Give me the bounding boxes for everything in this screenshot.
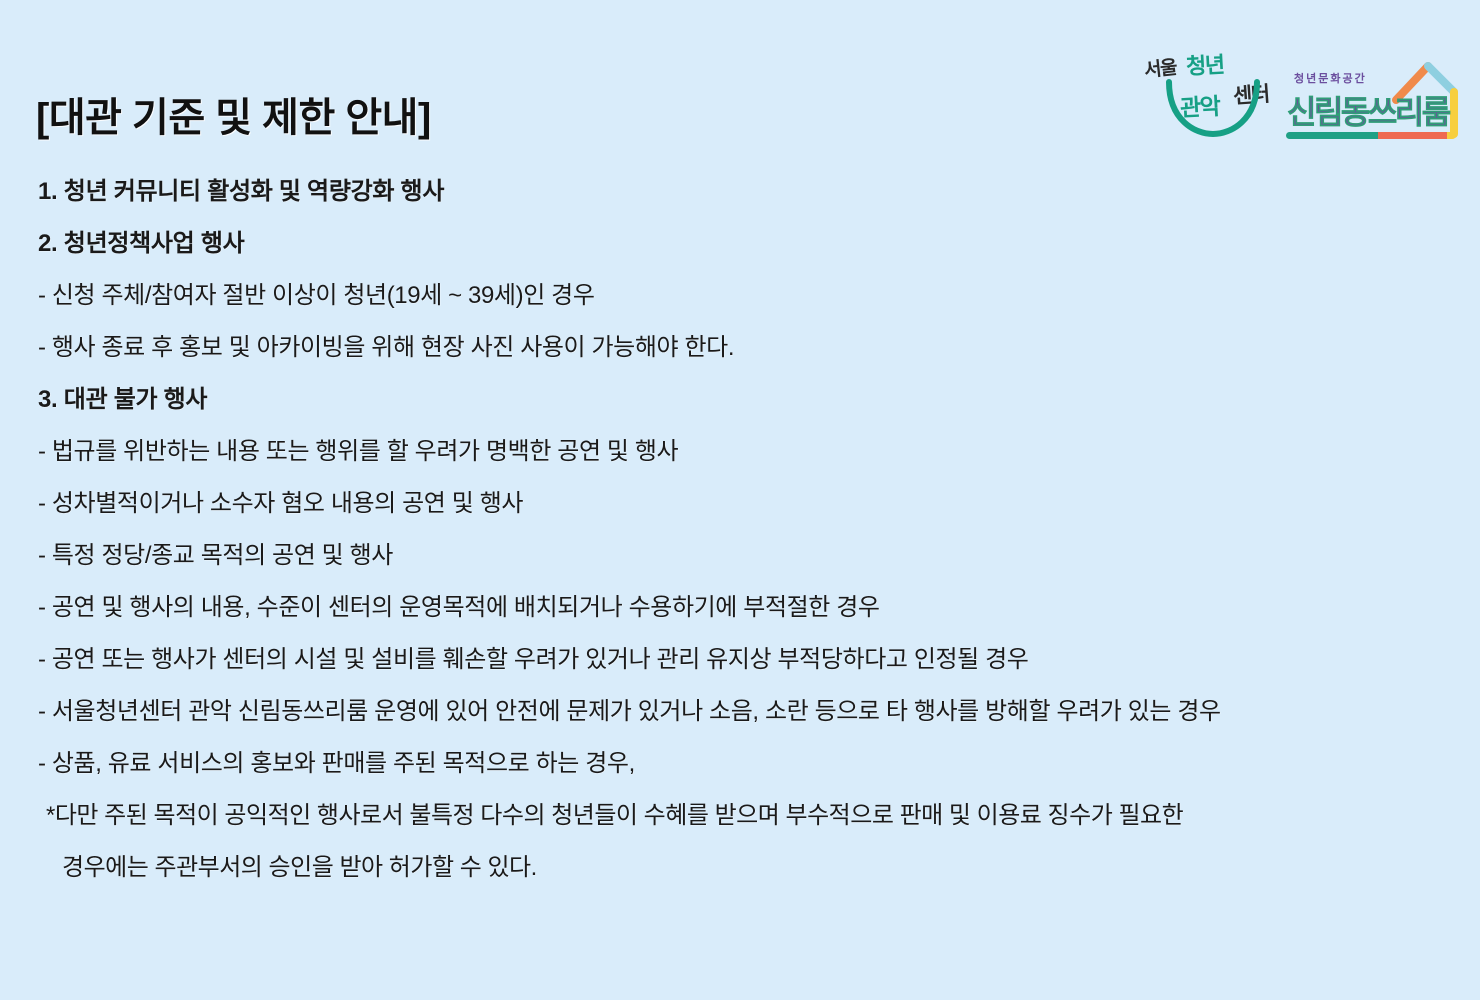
rule-line: *다만 주된 목적이 공익적인 행사로서 불특정 다수의 청년들이 수혜를 받으… [0, 790, 1480, 842]
color-bar-green-segment [1286, 132, 1378, 139]
color-bar-orange-segment [1378, 132, 1448, 139]
rule-line: - 공연 또는 행사가 센터의 시설 및 설비를 훼손할 우려가 있거나 관리 … [0, 634, 1480, 686]
logo-text-subtitle: 청년문화공간 [1294, 70, 1367, 86]
rule-line: 경우에는 주관부서의 승인을 받아 허가할 수 있다. [0, 842, 1480, 894]
rule-line: - 행사 종료 후 홍보 및 아카이빙을 위해 현장 사진 사용이 가능해야 한… [0, 322, 1480, 374]
logo-color-bar [1286, 132, 1456, 139]
logo-lockup: 서울 청년 센터 관악 청년문화공간 신림동쓰리룸 [1132, 40, 1462, 150]
rules-list: 1. 청년 커뮤니티 활성화 및 역량강화 행사2. 청년정책사업 행사- 신청… [0, 166, 1480, 894]
rule-line: - 특정 정당/종교 목적의 공연 및 행사 [0, 530, 1480, 582]
seoul-youth-center-logo: 서울 청년 센터 관악 [1132, 46, 1292, 144]
logo-text-gwanak: 관악 [1179, 87, 1220, 123]
color-bar-yellow-segment [1447, 132, 1456, 139]
rule-line: - 법규를 위반하는 내용 또는 행위를 할 우려가 명백한 공연 및 행사 [0, 426, 1480, 478]
rule-line: - 서울청년센터 관악 신림동쓰리룸 운영에 있어 안전에 문제가 있거나 소음… [0, 686, 1480, 738]
section-heading: 3. 대관 불가 행사 [0, 374, 1480, 426]
rule-line: - 상품, 유료 서비스의 홍보와 판매를 주된 목적으로 하는 경우, [0, 738, 1480, 790]
rule-line: - 공연 및 행사의 내용, 수준이 센터의 운영목적에 배치되거나 수용하기에… [0, 582, 1480, 634]
logo-text-name: 신림동쓰리룸 [1287, 87, 1449, 133]
section-heading: 1. 청년 커뮤니티 활성화 및 역량강화 행사 [0, 166, 1480, 218]
rule-line: - 성차별적이거나 소수자 혐오 내용의 공연 및 행사 [0, 478, 1480, 530]
section-heading: 2. 청년정책사업 행사 [0, 218, 1480, 270]
slide-canvas: [대관 기준 및 제한 안내] 서울 청년 센터 관악 청년문화공간 신림동쓰리… [0, 0, 1480, 1000]
rule-line: - 신청 주체/참여자 절반 이상이 청년(19세 ~ 39세)인 경우 [0, 270, 1480, 322]
page-title: [대관 기준 및 제한 안내] [36, 85, 431, 143]
sillimdong-threeroom-logo: 청년문화공간 신림동쓰리룸 [1278, 48, 1464, 144]
